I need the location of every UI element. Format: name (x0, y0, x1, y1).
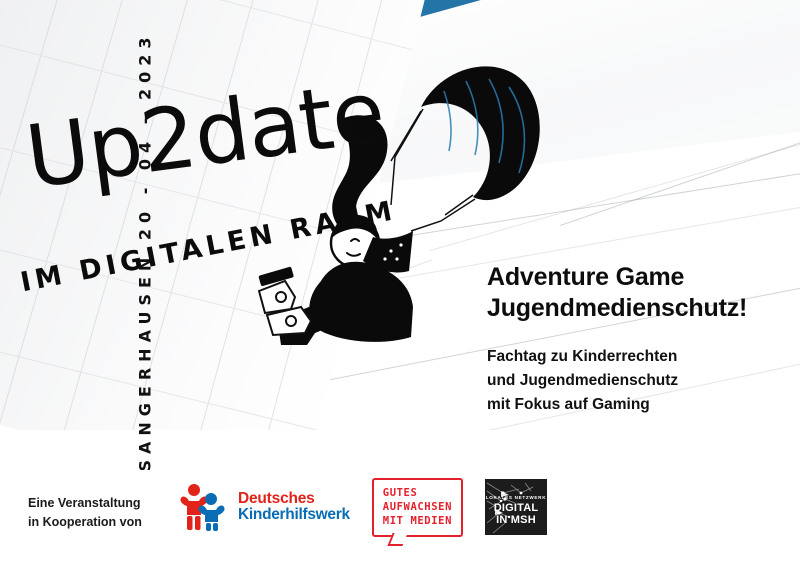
kinderhilfswerk-line2: Kinderhilfswerk (238, 507, 350, 523)
msh-wordmark: DIGITAL IN MSH (485, 503, 547, 525)
event-subcopy-line2: und Jugendmedienschutz (487, 369, 787, 393)
msh-line1: DIGITAL (485, 503, 547, 514)
gamm-line1: GUTES (383, 487, 452, 501)
kite-lines (391, 109, 475, 231)
logo-gutes-aufwachsen-mit-medien[interactable]: GUTES AUFWACHSEN MIT MEDIEN (372, 478, 463, 537)
kite-shape (421, 66, 540, 200)
torso (309, 262, 413, 342)
kinderhilfswerk-figures-icon (175, 482, 231, 532)
speech-bubble-tail-icon (387, 533, 407, 546)
sneaker-left (259, 281, 295, 313)
event-subcopy: Fachtag zu Kinderrechten und Jugendmedie… (487, 345, 787, 417)
gamm-line3: MIT MEDIEN (383, 515, 452, 529)
footer: Eine Veranstaltung in Kooperation von (0, 470, 800, 576)
poster: Up2date IM DIGITALEN RAUM SANGERHAUSEN 2… (0, 0, 800, 576)
msh-line2: IN MSH (485, 515, 547, 526)
event-headline-line1: Adventure Game (487, 262, 787, 293)
kinderhilfswerk-line1: Deutsches (238, 491, 350, 507)
gamm-line2: AUFWACHSEN (383, 501, 452, 515)
event-subcopy-line3: mit Fokus auf Gaming (487, 393, 787, 417)
vertical-date-text: SANGERHAUSEN 20 - 04 - 2023 (136, 120, 155, 490)
event-headline: Adventure Game Jugendmedienschutz! (487, 262, 787, 323)
kinderhilfswerk-wordmark: Deutsches Kinderhilfswerk (238, 491, 350, 523)
credit-text: Eine Veranstaltung in Kooperation von (28, 494, 142, 533)
event-subcopy-line1: Fachtag zu Kinderrechten (487, 345, 787, 369)
partner-logos: Deutsches Kinderhilfswerk GUTES AUFWACHS… (175, 478, 547, 537)
event-text-block: Adventure Game Jugendmedienschutz! Facht… (487, 262, 787, 417)
vertical-date-location: SANGERHAUSEN 20 - 04 - 2023 (136, 120, 155, 490)
logo-deutsches-kinderhilfswerk[interactable]: Deutsches Kinderhilfswerk (175, 482, 350, 532)
logo-digital-in-msh[interactable]: LOKALES NETZWERK DIGITAL IN MSH (485, 479, 547, 535)
credit-line2: in Kooperation von (28, 513, 142, 532)
msh-eyebrow: LOKALES NETZWERK (485, 495, 547, 500)
event-headline-line2: Jugendmedienschutz! (487, 293, 787, 324)
credit-line1: Eine Veranstaltung (28, 494, 142, 513)
